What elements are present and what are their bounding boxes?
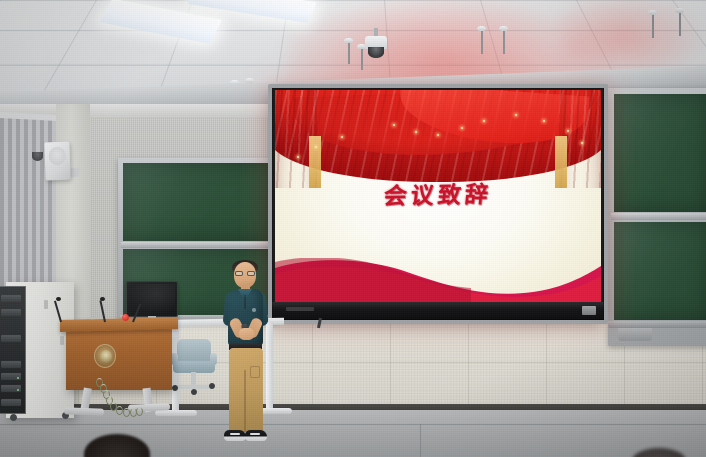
wall-speaker <box>44 142 70 181</box>
sprinkler-pendant-6 <box>679 12 681 36</box>
floor-seam-1 <box>0 424 706 425</box>
right-chalkboard-divider <box>611 213 706 220</box>
microphone-head-2 <box>100 297 105 301</box>
cable-coil-segment <box>136 407 143 416</box>
curtain-sparkle <box>515 114 517 116</box>
sprinkler-head-1 <box>344 38 353 43</box>
left-chalkboard-divider <box>121 242 275 248</box>
chair-backrest <box>177 339 211 363</box>
wave-path-back <box>275 258 471 304</box>
rack-unit <box>1 335 21 342</box>
desktop-monitor[interactable] <box>126 281 178 317</box>
sprinkler-head-5 <box>648 10 657 15</box>
rack-status-led <box>17 389 19 391</box>
rack-unit <box>1 295 21 302</box>
presenter-shoe-left <box>224 430 246 441</box>
right-chalkboard-panel-upper <box>614 94 706 212</box>
curtain-sparkle <box>393 124 395 126</box>
presenter-shoe-right <box>245 430 267 441</box>
sprinkler-pendant-1 <box>348 42 350 64</box>
shoe-stripe <box>250 433 260 435</box>
podium-university-crest <box>94 344 116 368</box>
microphone-head-3 <box>136 300 141 304</box>
curtain-sparkle <box>483 120 485 122</box>
curtain-sparkle <box>341 136 343 138</box>
mini-dome-camera <box>32 152 43 161</box>
control-desk-foot-left <box>155 410 197 416</box>
rack-status-led <box>17 377 19 379</box>
rack-unit <box>1 361 21 368</box>
curtain-sparkle <box>297 156 299 158</box>
led-brand-plate <box>582 306 596 315</box>
chalkboard-sheen <box>123 163 273 241</box>
dome-security-camera <box>365 36 387 49</box>
presenter-hands <box>239 328 254 340</box>
chair-caster <box>191 389 197 395</box>
shoe-stripe <box>230 433 240 435</box>
sprinkler-pendant-4 <box>503 30 505 54</box>
rack-door-handle-lower[interactable] <box>60 336 64 345</box>
cable-coil-segment <box>123 408 130 417</box>
glasses-lens-right <box>247 271 255 276</box>
rack-unit <box>1 399 21 406</box>
sprinkler-pendant-3 <box>481 30 483 54</box>
curtain-sparkle <box>581 142 583 144</box>
curtain-sparkle <box>543 120 545 122</box>
chair-caster <box>172 385 178 391</box>
sprinkler-pendant-2 <box>361 48 363 70</box>
curtain-sparkle <box>461 127 463 129</box>
glasses-lens-left <box>235 271 243 276</box>
curtain-sparkle <box>567 130 569 132</box>
sprinkler-head-6 <box>675 8 684 13</box>
sprinkler-head-4 <box>499 26 508 31</box>
presenter-shirt-placket <box>244 295 246 309</box>
led-screen-content: 会议致辞 <box>275 90 601 304</box>
office-chair[interactable] <box>171 339 217 385</box>
microphone-head-1 <box>56 297 61 301</box>
chalkboard-sheen <box>614 222 706 320</box>
right-chalkboard-panel-lower <box>614 222 706 320</box>
rack-unit <box>1 309 21 316</box>
slide-wave-graphic <box>275 258 601 304</box>
right-chalk-tray-box <box>618 328 652 341</box>
right-chalk-tray <box>608 321 706 328</box>
sprinkler-head-3 <box>477 26 486 31</box>
equipment-rack-open-bay <box>0 286 26 414</box>
cable-coil-segment <box>116 406 123 415</box>
right-chalkboard <box>608 88 706 346</box>
led-bezel-port <box>286 307 314 311</box>
presenter-trousers <box>229 348 263 432</box>
curtain-leg-left <box>275 90 317 188</box>
sprinkler-pendant-5 <box>652 14 654 38</box>
presenter-shirt-logo <box>252 308 256 312</box>
microphone-indicator-light <box>122 314 129 321</box>
coiled-floor-cable <box>96 378 142 416</box>
presenter-trouser-pocket <box>250 366 260 378</box>
led-bottom-bezel <box>272 302 604 320</box>
presenter-trouser-seam <box>244 370 246 432</box>
presenter <box>218 262 272 448</box>
rack-caster <box>10 414 17 421</box>
slide-title: 会议致辞 <box>275 173 601 213</box>
wave-svg <box>275 258 601 304</box>
presenter-glasses <box>235 271 255 276</box>
chalkboard-sheen <box>614 94 706 212</box>
chair-caster <box>209 383 215 389</box>
curtain-sparkle <box>315 146 317 148</box>
floor-seam-2 <box>420 424 421 457</box>
curtain-sparkle <box>415 131 417 133</box>
led-wall-display[interactable]: 会议致辞 <box>272 88 604 320</box>
curtain-sparkle <box>437 134 439 136</box>
left-chalkboard-panel-upper <box>123 163 273 241</box>
rack-door-handle[interactable] <box>44 300 48 309</box>
lecture-hall-photo: 会议致辞 <box>0 0 706 457</box>
